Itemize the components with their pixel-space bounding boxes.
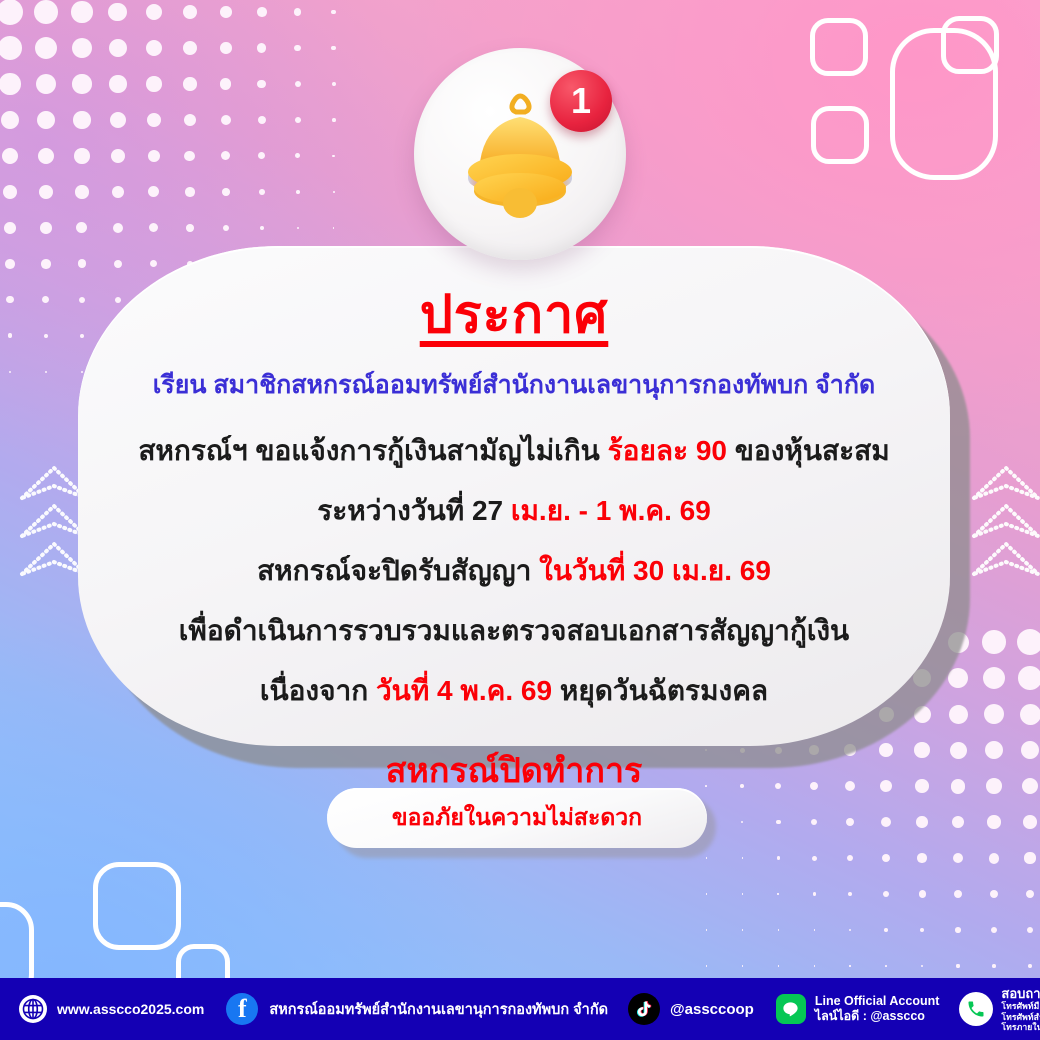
phone-icon	[959, 992, 993, 1026]
line-id: ไลน์ไอดี : @asscco	[815, 1009, 940, 1024]
announcement-line: สหกรณ์ฯ ขอแจ้งการกู้เงินสามัญไม่เกิน ร้อ…	[138, 429, 889, 473]
apology-pill: ขออภัยในความไม่สะดวก	[327, 788, 707, 848]
greeting-line: เรียน สมาชิกสหกรณ์ออมทรัพย์สำนักงานเลขาน…	[153, 365, 875, 405]
tiktok-handle: @assccoop	[670, 1001, 754, 1018]
announcement-line: ระหว่างวันที่ 27 เม.ย. - 1 พ.ค. 69	[138, 489, 889, 533]
footer-tiktok[interactable]: @assccoop	[628, 978, 754, 1040]
notification-badge: 1	[550, 70, 612, 132]
decor-rounded-square	[941, 16, 999, 74]
line-icon	[776, 994, 806, 1024]
phone-head: สอบถามเพิ่มเติม	[1001, 986, 1040, 1001]
phone-row: โทรศัพท์มือถือ : 087 985 0440	[1001, 1001, 1040, 1011]
page-title: ประกาศ	[420, 288, 609, 343]
phone-row: โทรศัพท์สำนักงาน : 02 281 3045	[1001, 1012, 1040, 1022]
decor-rounded-square	[811, 106, 869, 164]
bell-icon-circle: 1	[414, 48, 626, 260]
tiktok-icon	[628, 993, 660, 1025]
footer-phone[interactable]: สอบถามเพิ่มเติม โทรศัพท์มือถือ : 087 985…	[959, 978, 1040, 1040]
announcement-line: สหกรณ์จะปิดรับสัญญา ในวันที่ 30 เม.ย. 69	[138, 549, 889, 593]
footer-bar: www.asscco2025.com f สหกรณ์ออมทรัพย์สำนั…	[0, 978, 1040, 1040]
facebook-text: สหกรณ์ออมทรัพย์สำนักงานเลขานุการกองทัพบก…	[269, 998, 608, 1021]
website-text: www.asscco2025.com	[57, 1001, 204, 1017]
announcement-line: เนื่องจาก วันที่ 4 พ.ค. 69 หยุดวันฉัตรมง…	[138, 669, 889, 713]
announcement-body: สหกรณ์ฯ ขอแจ้งการกู้เงินสามัญไม่เกิน ร้อ…	[138, 429, 889, 729]
line-head: Line Official Account	[815, 994, 940, 1009]
announcement-card: ประกาศ เรียน สมาชิกสหกรณ์ออมทรัพย์สำนักง…	[78, 246, 950, 746]
footer-website[interactable]: www.asscco2025.com	[18, 978, 204, 1040]
highlight-text: วันที่ 4 พ.ค. 69	[376, 675, 552, 706]
highlight-text: ร้อยละ 90	[608, 435, 727, 466]
highlight-text: เม.ย. - 1 พ.ค. 69	[511, 495, 711, 526]
decor-rounded-square	[93, 862, 181, 950]
footer-line[interactable]: Line Official Account ไลน์ไอดี : @asscco	[776, 978, 940, 1040]
chevron-up-decor-right	[966, 462, 1040, 582]
facebook-icon: f	[226, 993, 258, 1025]
footer-facebook[interactable]: f สหกรณ์ออมทรัพย์สำนักงานเลขานุการกองทัพ…	[226, 978, 608, 1040]
announcement-line: เพื่อดำเนินการรวบรวมและตรวจสอบเอกสารสัญญ…	[138, 609, 889, 653]
poster-canvas: ประกาศ เรียน สมาชิกสหกรณ์ออมทรัพย์สำนักง…	[0, 0, 1040, 1040]
highlight-text: ในวันที่ 30 เม.ย. 69	[539, 555, 771, 586]
globe-icon	[18, 994, 48, 1024]
phone-row: โทรภายใน บก.ทบ. : 97813	[1001, 1022, 1040, 1032]
